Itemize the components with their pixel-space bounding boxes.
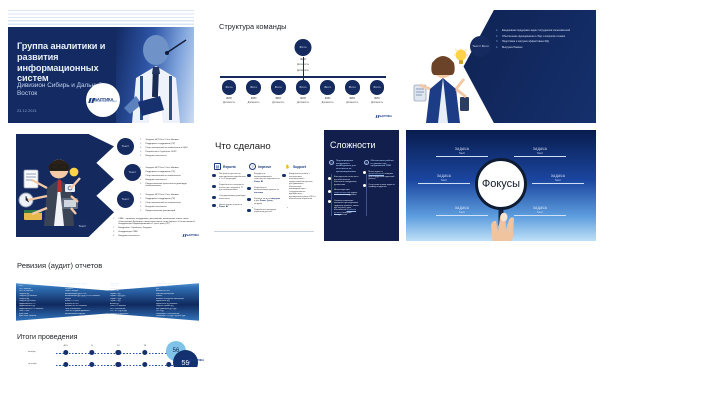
list-item: 1.Загрузка НСП баз / Сеть Навижн bbox=[140, 194, 200, 197]
bullet-number: 5. bbox=[140, 210, 143, 213]
slide-thumbnail-team-structure[interactable]: Структура команды Фото ФИО Должность Дол… bbox=[208, 10, 398, 123]
timeline-dot-icon bbox=[212, 174, 215, 177]
person-name: ФИО bbox=[340, 97, 364, 100]
bullet-text: Загрузка НСП баз / Сеть Навижн bbox=[145, 194, 178, 197]
timeline-column: ✋ Support Ежедневная работа с назначение… bbox=[284, 163, 316, 217]
slide-date: 23.12.2021 bbox=[17, 109, 37, 113]
bullet-text: Сбор показателей по показателям bbox=[145, 202, 180, 205]
org-members-row: Фото ФИО Должность Фото ФИО Должность Фо… bbox=[217, 80, 389, 104]
photo-placeholder: Фото bbox=[345, 80, 360, 95]
task-text: Текст bbox=[418, 179, 470, 182]
person-role: Должность bbox=[365, 101, 389, 104]
bullet-list: 1.Загрузка НСП баз / Сеть Навижн 2.Подде… bbox=[140, 194, 200, 214]
timeline-dot-icon bbox=[247, 209, 250, 212]
org-member-node: Фото ФИО Должность bbox=[266, 80, 290, 104]
list-item: Сложные замечания возникают при подготов… bbox=[329, 200, 361, 217]
list-item: 4. Выгрузка Навижн bbox=[496, 46, 588, 49]
item-text: Разработаны и запущены отчеты для загруз… bbox=[219, 184, 246, 192]
bullet-text: Выгрузка Навижн bbox=[502, 46, 522, 49]
slide-heading: Сложности bbox=[330, 140, 375, 150]
report-row: Автоматизация сведений bbox=[65, 313, 107, 315]
task-callout: ЗАДАЧА Текст bbox=[514, 147, 566, 157]
timeline-dot-icon bbox=[363, 171, 366, 174]
list-item: 1.Загрузка НСП баз / Сеть Навижн bbox=[140, 139, 200, 142]
difficulty-columns: ◷ Подтверждение внедрения и необходимых … bbox=[329, 160, 395, 220]
column-header: ✋ Support bbox=[284, 163, 316, 170]
lightbulb-icon bbox=[454, 48, 468, 66]
report-column: Отчет дивизиона СФО СФО Филиалы СФО по К… bbox=[19, 283, 61, 318]
report-row: Доля сетей Филиалы bbox=[19, 315, 61, 317]
list-item: 3.Сбор показателей по показателям bbox=[140, 202, 200, 205]
task-label: ЗАДАЧА bbox=[436, 147, 488, 151]
lightbulb-icon: ? bbox=[249, 163, 256, 170]
bullet-list: 1.Загрузка НСП баз / Сеть Навижн 2.Подде… bbox=[140, 167, 200, 189]
brand-watermark: БАЛТИКА bbox=[183, 234, 199, 237]
item-text: Еженедельная отчетность для обеспечения … bbox=[334, 176, 361, 186]
bullet-text: Сбор показателей по показателям и ЦФО bbox=[145, 147, 187, 150]
list-item: Разработана методика обработки данных bbox=[249, 209, 281, 214]
timeline-row: октябрь 46,5 8 15 19 15 bbox=[56, 348, 176, 360]
timeline-dot-icon bbox=[212, 185, 215, 188]
brand-logo: БАЛТИКА ПИВОВАРЕННАЯ КОМПАНИЯ bbox=[86, 83, 120, 117]
timeline-dot-icon bbox=[212, 204, 215, 207]
person-role: Должность bbox=[340, 101, 364, 104]
column-title: Improve bbox=[258, 165, 271, 169]
task-callout: ЗАДАЧА Текст bbox=[532, 174, 584, 184]
list-item: 4.Выгрузка отчетности bbox=[140, 206, 200, 209]
bullet-number: 3. bbox=[140, 147, 143, 150]
baseline-divider bbox=[214, 231, 314, 232]
bullet-number: 3. bbox=[140, 175, 143, 178]
text-photo-bubble: Текст/ Фото bbox=[470, 36, 491, 57]
list-item: 2.Поддержка сотрудников (СР) bbox=[140, 143, 200, 146]
bullet-number: 3. bbox=[113, 231, 116, 234]
list-item: Еженедельная отчетность для обеспечения … bbox=[329, 176, 361, 186]
item-text: Форма и логи по выгрузке и для Power Que… bbox=[254, 198, 281, 206]
text-photo-bubble: Текст bbox=[117, 191, 134, 208]
data-value: 8 bbox=[91, 345, 92, 347]
list-item: Форма и логи по выгрузке и для Power Que… bbox=[249, 198, 281, 206]
timeline-dot-icon bbox=[363, 184, 366, 187]
slide-heading: Структура команды bbox=[219, 22, 286, 31]
brand-watermark: БАЛТИКА bbox=[188, 359, 204, 362]
list-item: 4.Выгрузка отчетности bbox=[140, 179, 200, 182]
bullet-text: Выгрузка отчетности bbox=[118, 235, 139, 238]
list-item: Разработана автоматизация данных от сист… bbox=[249, 187, 281, 195]
org-connector-vertical bbox=[303, 57, 304, 76]
bubble-line1: Текст bbox=[129, 171, 137, 174]
bullet-number: 5. bbox=[140, 155, 143, 158]
bullet-text: CRM – проверка сотрудников, достижений, … bbox=[118, 218, 199, 226]
report-row: Профиль и просмотры bbox=[110, 313, 152, 315]
list-item: Много задач при самостоятельной подаче о… bbox=[329, 189, 361, 196]
photo-placeholder: Текст/ Фото bbox=[470, 36, 491, 57]
bullet-text: Обеспечение функционала и сбор с вопросо… bbox=[502, 35, 565, 38]
task-text: Текст bbox=[514, 152, 566, 155]
timeline-column: ▤ Reports Построены данные по еженедельн… bbox=[214, 163, 246, 217]
results-timeline: октябрь 46,5 8 15 19 15 сентябрь 46,5 6 … bbox=[56, 348, 176, 367]
bullet-number: 3. bbox=[140, 202, 143, 205]
timeline-dot-icon bbox=[247, 174, 250, 177]
hand-illustration bbox=[479, 210, 523, 241]
bullet-text: Предоставление реализаций bbox=[145, 210, 175, 213]
column-header: ♦ Обеспечение работы от данных при продв… bbox=[364, 160, 396, 168]
list-item: Стандартизация дашборда отчетности bbox=[214, 195, 246, 200]
photo-placeholder: Фото bbox=[295, 39, 312, 56]
photo-placeholder: Текст bbox=[117, 138, 134, 155]
list-item: 2.Внедрение, Отработка, Загрузка bbox=[113, 227, 199, 230]
person-name: ФИО bbox=[266, 97, 290, 100]
text-photo-bubble: Текст bbox=[124, 164, 141, 181]
item-text: Построены данные по еженедельным доработ… bbox=[219, 173, 246, 181]
item-text: Внедрена и автоматизирована собственная … bbox=[254, 173, 281, 183]
person-role: Должность bbox=[242, 101, 266, 104]
person-name: ФИО bbox=[217, 97, 241, 100]
results-heading: Итоги проведения bbox=[17, 332, 78, 341]
photo-placeholder: Фото bbox=[271, 80, 286, 95]
report-column: Заказ ДДК Заказ СО Заказ ДД Заказ СФО Се… bbox=[110, 283, 152, 318]
photo-placeholder: Фото bbox=[320, 80, 335, 95]
bullet-number: 4. bbox=[140, 179, 143, 182]
org-member-node: Фото ФИО Должность bbox=[217, 80, 241, 104]
column-header: ? Improve bbox=[249, 163, 281, 170]
chart-icon: ▤ bbox=[214, 163, 221, 170]
task-callout: ЗАДАЧА Текст bbox=[418, 174, 470, 184]
item-text: Новая версия отчетов в Power BI bbox=[219, 204, 246, 209]
bullet-text: Выгрузка отчетности bbox=[145, 179, 166, 182]
column-title: Support bbox=[293, 165, 306, 169]
timeline-dot-icon bbox=[328, 190, 331, 193]
item-text: Ежедневная работа с назначением пользова… bbox=[289, 173, 316, 201]
timeline-dot-icon bbox=[247, 198, 250, 201]
column-title: Подтверждение внедрения и необходимых дл… bbox=[336, 160, 361, 173]
list-item: 2.Поддержка сотрудников (СР) bbox=[140, 171, 200, 174]
item-text: Разработана методика обработки данных bbox=[254, 209, 281, 214]
bullet-number: 1. bbox=[140, 194, 143, 197]
org-connector-leg bbox=[303, 76, 304, 80]
photo-placeholder: Фото bbox=[296, 80, 311, 95]
bullet-number: 2. bbox=[140, 198, 143, 201]
bullet-text: Поддержка сотрудников (СР) bbox=[145, 198, 175, 201]
item-text: Сложные замечания возникают при подготов… bbox=[334, 200, 361, 217]
person-name: ФИО bbox=[365, 97, 389, 100]
list-item: Разработаны и запущены отчеты для загруз… bbox=[214, 184, 246, 192]
list-item: 5.Предоставление целостности дашборда по… bbox=[140, 183, 200, 188]
task-label: ЗАДАЧА bbox=[514, 147, 566, 151]
bullet-number: 5. bbox=[140, 183, 143, 188]
task-text: Текст bbox=[532, 179, 584, 182]
slide-thumbnail-title[interactable]: Группа аналитики и развития информационн… bbox=[8, 10, 194, 123]
slide-thumbnail-difficulties[interactable]: Сложности ◷ Подтверждение внедрения и не… bbox=[324, 130, 399, 241]
support-icon: ✋ bbox=[284, 163, 291, 170]
bubble-line1: Текст bbox=[122, 198, 130, 201]
bullet-text: Разработка и Отработка ОКРУ bbox=[145, 151, 176, 154]
slide-heading: Ревизия (аудит) отчетов bbox=[17, 261, 102, 270]
report-column: Динамика ДД / ДДК / ДДКК Продажи / ДДКТ … bbox=[156, 283, 198, 318]
org-member-node: Фото ФИО Должность bbox=[291, 80, 315, 104]
person-role: Должность bbox=[291, 101, 315, 104]
list-item: Новая версия отчетов в Power BI bbox=[214, 204, 246, 209]
bullet-text: Поддержка сотрудников (СР) bbox=[145, 171, 175, 174]
list-item: 4.Разработка и Отработка ОКРУ bbox=[140, 151, 200, 154]
report-column: Дистрибуция по СФО (ДДК) Сервис Система … bbox=[65, 283, 107, 318]
item-text: Много задач на дополнительных позициях д… bbox=[369, 171, 396, 181]
timeline-dot-icon bbox=[247, 187, 250, 190]
data-value: 19 bbox=[144, 345, 146, 347]
person-name: ФИО bbox=[316, 97, 340, 100]
slide-thumbnail-responsibilities[interactable]: Текст/ Фото 1. Ежедневная поддержка зада… bbox=[410, 10, 596, 123]
slide-thumbnail-focuses[interactable]: ЗАДАЧА Текст ЗАДАЧА Текст ЗАДАЧА Текст З… bbox=[406, 130, 596, 241]
person-name: ФИО bbox=[291, 97, 315, 100]
slide-thumbnail-grid: Группа аналитики и развития информационн… bbox=[0, 0, 720, 405]
row-label: сентябрь bbox=[28, 363, 37, 365]
list-item: 5.Предоставление реализаций bbox=[140, 210, 200, 213]
list-item: 2. Обеспечение функционала и сбор с вопр… bbox=[496, 35, 588, 38]
task-label: ЗАДАЧА bbox=[418, 174, 470, 178]
item-text: Стандартизация дашборда отчетности bbox=[219, 195, 246, 200]
person-role: Должность bbox=[217, 101, 241, 104]
report-columns: Отчет дивизиона СФО СФО Филиалы СФО по К… bbox=[19, 283, 197, 318]
bullet-number: 4. bbox=[140, 151, 143, 154]
task-underline bbox=[532, 183, 584, 184]
org-trunk-label: Должность bbox=[208, 70, 398, 72]
timeline-dot-icon bbox=[328, 177, 331, 180]
data-value: 46,5 bbox=[63, 345, 67, 347]
slide-heading: Что сделано bbox=[215, 141, 271, 152]
bubble-line1: Текст bbox=[122, 145, 130, 148]
photo-placeholder: Фото bbox=[222, 80, 237, 95]
task-text: Текст bbox=[436, 152, 488, 155]
bullet-number: 2. bbox=[140, 171, 143, 174]
photo-placeholder: Фото bbox=[246, 80, 261, 95]
text-photo-bubble: Текст bbox=[74, 218, 91, 235]
logo-subtext: ПИВОВАРЕННАЯ КОМПАНИЯ bbox=[94, 102, 117, 103]
timeline-row: сентябрь 46,5 6 17 21 19 bbox=[56, 360, 176, 367]
bullet-text: Загрузка НСП баз / Сеть Навижн bbox=[145, 167, 178, 170]
timeline-dot-icon bbox=[282, 174, 285, 177]
column-header: ◷ Подтверждение внедрения и необходимых … bbox=[329, 160, 361, 173]
task-callout: ЗАДАЧА Текст bbox=[436, 147, 488, 157]
bullet-number: 4. bbox=[140, 206, 143, 209]
difficulty-column: ♦ Обеспечение работы от данных при продв… bbox=[364, 160, 396, 220]
list-item: 5.Выгрузка отчетности bbox=[140, 155, 200, 158]
person-name: ФИО bbox=[242, 97, 266, 100]
navy-panel bbox=[458, 10, 596, 123]
list-item: 1. Ежедневная поддержка задач сотруднико… bbox=[496, 29, 588, 32]
item-text: Много задач при самостоятельной подаче о… bbox=[334, 189, 361, 196]
person-role: Должность bbox=[316, 101, 340, 104]
list-item: 3.Сбор показателей по показателям bbox=[140, 175, 200, 178]
column-header: ▤ Reports bbox=[214, 163, 246, 170]
photo-placeholder: Фото bbox=[370, 80, 385, 95]
item-text: Отсутствие анализ задач по графику внедр… bbox=[369, 184, 396, 189]
businessman-illustration bbox=[116, 30, 192, 123]
bullet-text: Выгрузка отчетности bbox=[145, 206, 166, 209]
slide-thumbnail-roles-detail[interactable]: Текст Текст Текст Текст 1.Загрузка НСП б… bbox=[8, 130, 203, 241]
item-text: Разработана автоматизация данных от сист… bbox=[254, 187, 281, 195]
focus-label: Фокусы bbox=[482, 178, 520, 190]
data-value: 15 bbox=[117, 345, 119, 347]
timeline-dot-icon bbox=[212, 196, 215, 199]
task-underline bbox=[436, 156, 488, 157]
bullet-number: 1. bbox=[496, 29, 500, 32]
bullet-text: Поддержка сотрудников (СР) bbox=[145, 143, 175, 146]
text-photo-bubble: Текст bbox=[117, 138, 134, 155]
watermark-text: БАЛТИКА bbox=[192, 359, 204, 362]
org-member-node: Фото ФИО Должность bbox=[365, 80, 389, 104]
bullet-text: Загрузка НСП баз / Сеть Навижн bbox=[145, 139, 178, 142]
bullet-number: 4. bbox=[496, 46, 500, 49]
brand-watermark: БАЛТИКА bbox=[376, 115, 392, 118]
list-item: Отсутствие анализ задач по графику внедр… bbox=[364, 184, 396, 189]
bullet-number: 1. bbox=[140, 167, 143, 170]
slide-thumbnail-report-audit[interactable]: Ревизия (аудит) отчетов Отчет дивизиона … bbox=[8, 253, 208, 367]
slide-thumbnail-what-was-done[interactable]: Что сделано ▤ Reports Построены данные п… bbox=[208, 130, 320, 241]
org-member-node: Фото ФИО Должность bbox=[340, 80, 364, 104]
list-item: 3. Подготовка и загрузка эффективных БД bbox=[496, 40, 588, 43]
org-member-node: Фото ФИО Должность bbox=[242, 80, 266, 104]
person-role: Должность bbox=[266, 101, 290, 104]
list-item: Построены данные по еженедельным доработ… bbox=[214, 173, 246, 181]
multitasking-man-illustration bbox=[18, 152, 100, 226]
bullet-text: Ежедневная поддержка задач сотрудников п… bbox=[502, 29, 570, 32]
bullet-text: Предоставление целостности дашборда поль… bbox=[145, 183, 200, 188]
column-title: Обеспечение работы от данных при продвиж… bbox=[370, 160, 395, 168]
bubble-line1: Текст bbox=[79, 225, 87, 228]
list-item: 3.Сбор показателей по показателям и ЦФО bbox=[140, 147, 200, 150]
bullet-list: 1. Ежедневная поддержка задач сотруднико… bbox=[496, 29, 588, 51]
bullet-number: 2. bbox=[140, 143, 143, 146]
difficulty-column: ◷ Подтверждение внедрения и необходимых … bbox=[329, 160, 361, 220]
bullet-number: 1. bbox=[140, 139, 143, 142]
list-item: 1.Загрузка НСП баз / Сеть Навижн bbox=[140, 167, 200, 170]
clock-icon: ◷ bbox=[329, 160, 334, 165]
list-item: 2.Поддержка сотрудников (СР) bbox=[140, 198, 200, 201]
org-member-node: Фото ФИО Должность bbox=[316, 80, 340, 104]
slide-title: Группа аналитики и развития информационн… bbox=[17, 41, 121, 84]
bullet-text: Внедрение, Отработка, Загрузка bbox=[118, 227, 151, 230]
photo-placeholder: Текст bbox=[117, 191, 134, 208]
bullet-number: 2. bbox=[496, 35, 500, 38]
list-item: 1.CRM – проверка сотрудников, достижений… bbox=[113, 218, 199, 226]
magnifier-lens: Фокусы bbox=[475, 158, 527, 210]
bullet-text: Выгрузка отчетности bbox=[145, 155, 166, 158]
timeline-dot-icon bbox=[328, 200, 331, 203]
bullet-text: Координация CRM bbox=[118, 231, 137, 234]
bullet-number: 1. bbox=[113, 218, 116, 226]
timeline-column: ? Improve Внедрена и автоматизирована со… bbox=[249, 163, 281, 217]
row-label: октябрь bbox=[28, 351, 36, 353]
list-item: Ежедневная работа с назначением пользова… bbox=[284, 173, 316, 201]
column-title: Reports bbox=[223, 165, 236, 169]
bullet-number: 3. bbox=[496, 40, 500, 43]
watermark-text: БАЛТИКА bbox=[187, 234, 199, 237]
task-label: ЗАДАЧА bbox=[532, 174, 584, 178]
bullet-number: 2. bbox=[113, 227, 116, 230]
list-item: Внедрена и автоматизирована собственная … bbox=[249, 173, 281, 183]
watermark-text: БАЛТИКА bbox=[380, 115, 392, 118]
task-underline bbox=[514, 156, 566, 157]
bullet-text: Подготовка и загрузка эффективных БД bbox=[502, 40, 549, 43]
photo-placeholder: Текст bbox=[74, 218, 91, 235]
bullet-list: 1.Загрузка НСП баз / Сеть Навижн 2.Подде… bbox=[140, 139, 200, 159]
photo-placeholder: Текст bbox=[124, 164, 141, 181]
timeline-columns: ▤ Reports Построены данные по еженедельн… bbox=[214, 163, 316, 217]
bullet-text: Сбор показателей по показателям bbox=[145, 175, 180, 178]
people-icon: ♦ bbox=[364, 160, 369, 165]
task-underline bbox=[418, 183, 470, 184]
report-row: Реализация СО в ДДК / Доля по ДДК bbox=[156, 315, 198, 317]
bullet-number: 4. bbox=[113, 235, 116, 238]
list-item: Много задач на дополнительных позициях д… bbox=[364, 171, 396, 181]
